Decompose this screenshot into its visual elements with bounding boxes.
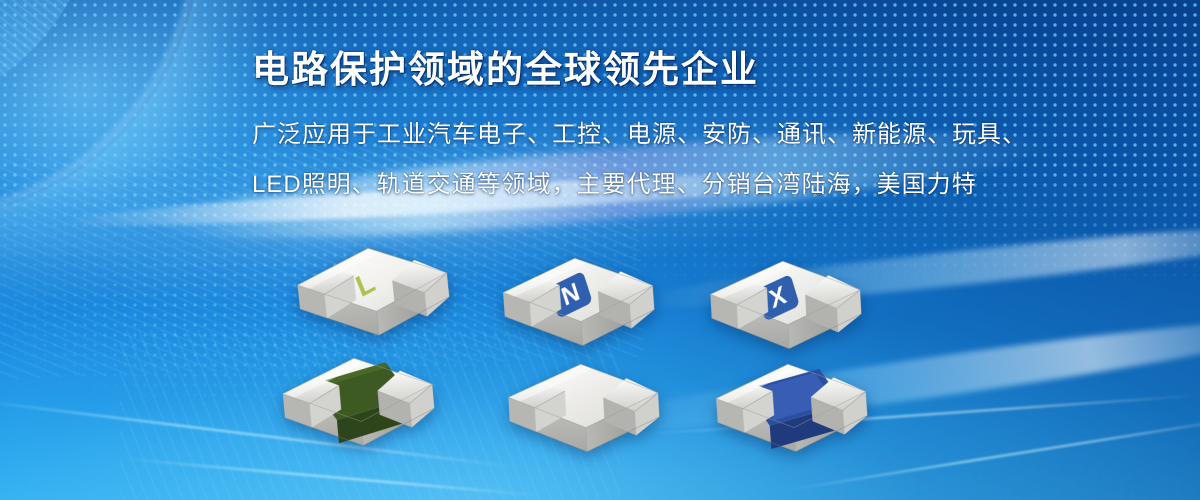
smd-fuse-blue-body — [698, 343, 879, 488]
subtitle-line-1: 广泛应用于工业汽车电子、工控、电源、安防、通讯、新能源、玩具、 — [252, 110, 1072, 160]
hero-banner: 电路保护领域的全球领先企业 广泛应用于工业汽车电子、工控、电源、安防、通讯、新能… — [0, 0, 1200, 500]
page-title: 电路保护领域的全球领先企业 — [252, 48, 1072, 92]
smd-fuse-green-body — [264, 336, 447, 484]
smd-fuse-plain-white — [491, 344, 670, 486]
hero-text-block: 电路保护领域的全球领先企业 广泛应用于工业汽车电子、工控、电源、安防、通讯、新能… — [252, 48, 1072, 210]
subtitle-line-2: LED照明、轨道交通等领域，主要代理、分销台湾陆海，美国力特 — [252, 160, 1072, 210]
